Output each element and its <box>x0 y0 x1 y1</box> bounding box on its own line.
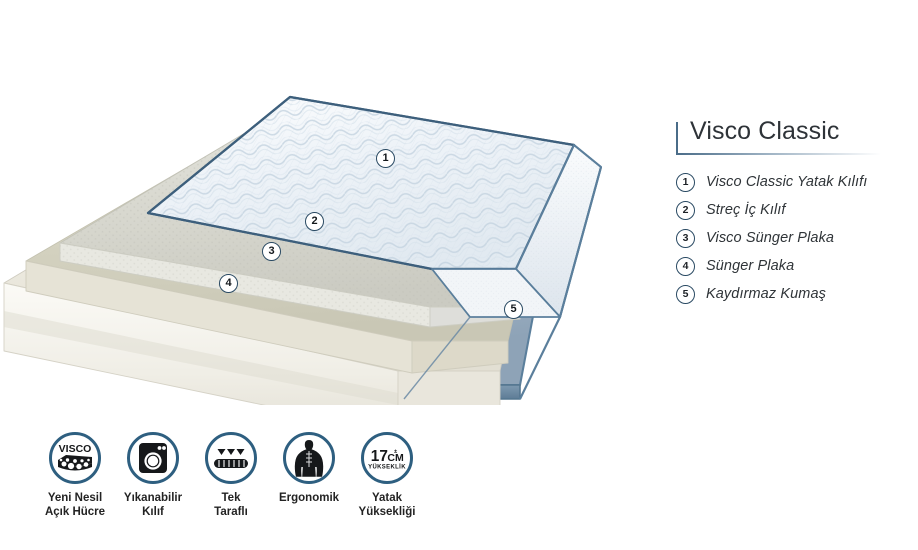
callout-cover: 1 <box>376 149 395 168</box>
feature-label-visco-open-cell: Yeni Nesil Açık Hücre <box>45 491 105 519</box>
legend-label-1: Visco Classic Yatak Kılıfı <box>706 174 867 190</box>
legend-item-1: 1 Visco Classic Yatak Kılıfı <box>676 173 908 192</box>
mattress-height-icon: 17 ± CM YÜKSEKLİK <box>361 432 413 484</box>
callout-stretch-liner-number: 2 <box>311 216 317 227</box>
feature-label-mattress-height: Yatak Yüksekliği <box>359 491 416 519</box>
feature-visco-open-cell: VISCO Yeni Nesil Açık Hücre <box>36 432 114 519</box>
legend-label-4: Sünger Plaka <box>706 258 794 274</box>
layer-legend-list: 1 Visco Classic Yatak Kılıfı 2 Streç İç … <box>676 173 908 304</box>
callout-nonslip-fabric-number: 5 <box>510 304 516 315</box>
feature-icon-row: VISCO Yeni Nesil Açık Hücre <box>36 432 426 519</box>
legend-badge-3: 3 <box>676 229 695 248</box>
feature-label-washable-cover: Yıkanabilir Kılıf <box>114 491 192 519</box>
product-title-block: Visco Classic <box>676 118 908 155</box>
mattress-cutaway-illustration: 1 2 3 4 5 <box>0 55 660 405</box>
legend-label-5: Kaydırmaz Kumaş <box>706 286 826 302</box>
callout-cover-number: 1 <box>382 153 388 164</box>
callout-stretch-liner: 2 <box>305 212 324 231</box>
callout-visco-foam-number: 3 <box>268 246 274 257</box>
legend-item-3: 3 Visco Sünger Plaka <box>676 229 908 248</box>
legend-badge-4: 4 <box>676 257 695 276</box>
legend-badge-2: 2 <box>676 201 695 220</box>
washing-machine-icon <box>127 432 179 484</box>
legend-badge-5: 5 <box>676 285 695 304</box>
feature-label-single-sided: Tek Taraflı <box>214 491 248 519</box>
feature-mattress-height: 17 ± CM YÜKSEKLİK Yatak Yüksekliği <box>348 432 426 519</box>
legend-badge-1: 1 <box>676 173 695 192</box>
feature-label-ergonomic: Ergonomik <box>279 491 339 505</box>
legend-label-2: Streç İç Kılıf <box>706 202 786 218</box>
legend-item-2: 2 Streç İç Kılıf <box>676 201 908 220</box>
ergonomic-body-icon <box>283 432 335 484</box>
legend-item-4: 4 Sünger Plaka <box>676 257 908 276</box>
feature-single-sided: Tek Taraflı <box>192 432 270 519</box>
callout-support-foam: 4 <box>219 274 238 293</box>
callout-visco-foam: 3 <box>262 242 281 261</box>
callout-support-foam-number: 4 <box>225 278 231 289</box>
height-caption-text: YÜKSEKLİK <box>368 464 406 471</box>
product-info-panel: Visco Classic 1 Visco Classic Yatak Kılı… <box>676 118 908 320</box>
height-value-text: 17 <box>371 448 388 465</box>
height-unit-text: CM <box>387 452 404 464</box>
single-sided-icon <box>205 432 257 484</box>
feature-ergonomic: Ergonomik <box>270 432 348 505</box>
feature-washable-cover: Yıkanabilir Kılıf <box>114 432 192 519</box>
legend-item-5: 5 Kaydırmaz Kumaş <box>676 285 908 304</box>
legend-label-3: Visco Sünger Plaka <box>706 230 834 246</box>
callout-nonslip-fabric: 5 <box>504 300 523 319</box>
page-title: Visco Classic <box>690 118 908 146</box>
visco-badge-text: VISCO <box>59 443 92 455</box>
visco-open-cell-icon: VISCO <box>49 432 101 484</box>
